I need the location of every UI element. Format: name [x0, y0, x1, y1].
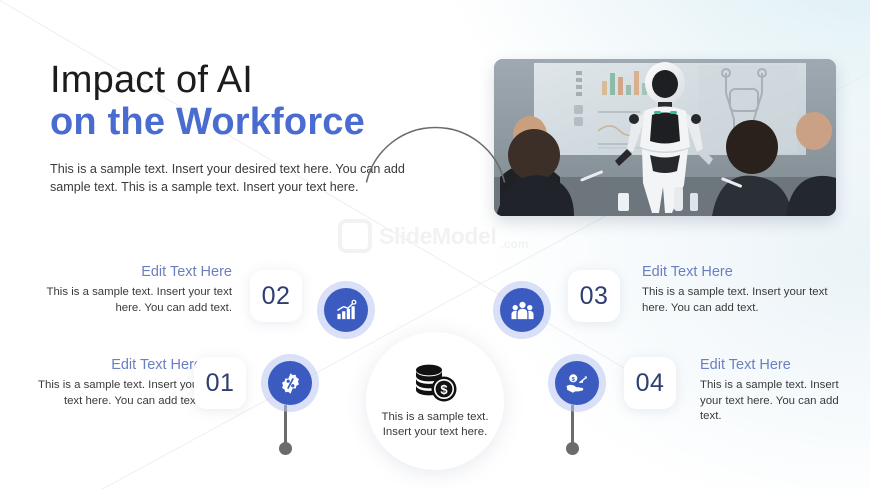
step-label-02: Edit Text Here This is a sample text. In… [32, 262, 232, 316]
step-number-badge-02: 02 [250, 270, 302, 322]
step-number-badge-03: 03 [568, 270, 620, 322]
step-node-04[interactable]: $ [555, 361, 599, 405]
people-group-icon [511, 299, 534, 322]
step-label-01: Edit Text Here This is a sample text. In… [32, 355, 202, 409]
step-node-02[interactable] [324, 288, 368, 332]
step-heading-04[interactable]: Edit Text Here [700, 355, 840, 375]
slide-canvas: Impact of AI on the Workforce This is a … [0, 0, 870, 489]
step-body-02: This is a sample text. Insert your text … [32, 285, 232, 316]
slidemodel-logo-icon [338, 219, 372, 253]
center-summary-circle: $ This is a sample text. Insert your tex… [366, 332, 504, 470]
title-line-2: on the Workforce [50, 100, 480, 144]
center-summary-text: This is a sample text. Insert your text … [373, 410, 497, 440]
robot-presentation-photo [494, 59, 836, 216]
svg-text:$: $ [440, 382, 448, 397]
stem-dot-04 [566, 442, 579, 455]
slidemodel-watermark: SlideModel .com [338, 218, 552, 254]
step-number-badge-04: 04 [624, 357, 676, 409]
stem-dot-01 [279, 442, 292, 455]
step-label-03: Edit Text Here This is a sample text. In… [642, 262, 838, 316]
stem-line-04 [571, 405, 574, 447]
percent-badge-icon [279, 372, 302, 395]
step-node-01[interactable] [268, 361, 312, 405]
stem-line-01 [284, 405, 287, 447]
step-body-04: This is a sample text. Insert your text … [700, 378, 840, 425]
step-number-badge-01: 01 [194, 357, 246, 409]
step-label-04: Edit Text Here This is a sample text. In… [700, 355, 840, 425]
watermark-tld: .com [500, 237, 528, 251]
step-heading-02[interactable]: Edit Text Here [32, 262, 232, 282]
step-body-01: This is a sample text. Insert your text … [32, 378, 202, 409]
step-heading-01[interactable]: Edit Text Here [32, 355, 202, 375]
growth-bar-chart-icon [335, 299, 358, 322]
step-heading-03[interactable]: Edit Text Here [642, 262, 838, 282]
step-node-03[interactable] [500, 288, 544, 332]
step-body-03: This is a sample text. Insert your text … [642, 285, 838, 316]
hand-holding-money-icon: $ [566, 372, 589, 395]
title-line-1: Impact of AI [50, 58, 480, 102]
photo-illustration [494, 59, 836, 216]
page-title: Impact of AI on the Workforce [50, 58, 480, 144]
coins-dollar-icon: $ [412, 363, 458, 403]
watermark-brand: SlideModel [379, 223, 496, 250]
lead-paragraph: This is a sample text. Insert your desir… [50, 160, 442, 196]
